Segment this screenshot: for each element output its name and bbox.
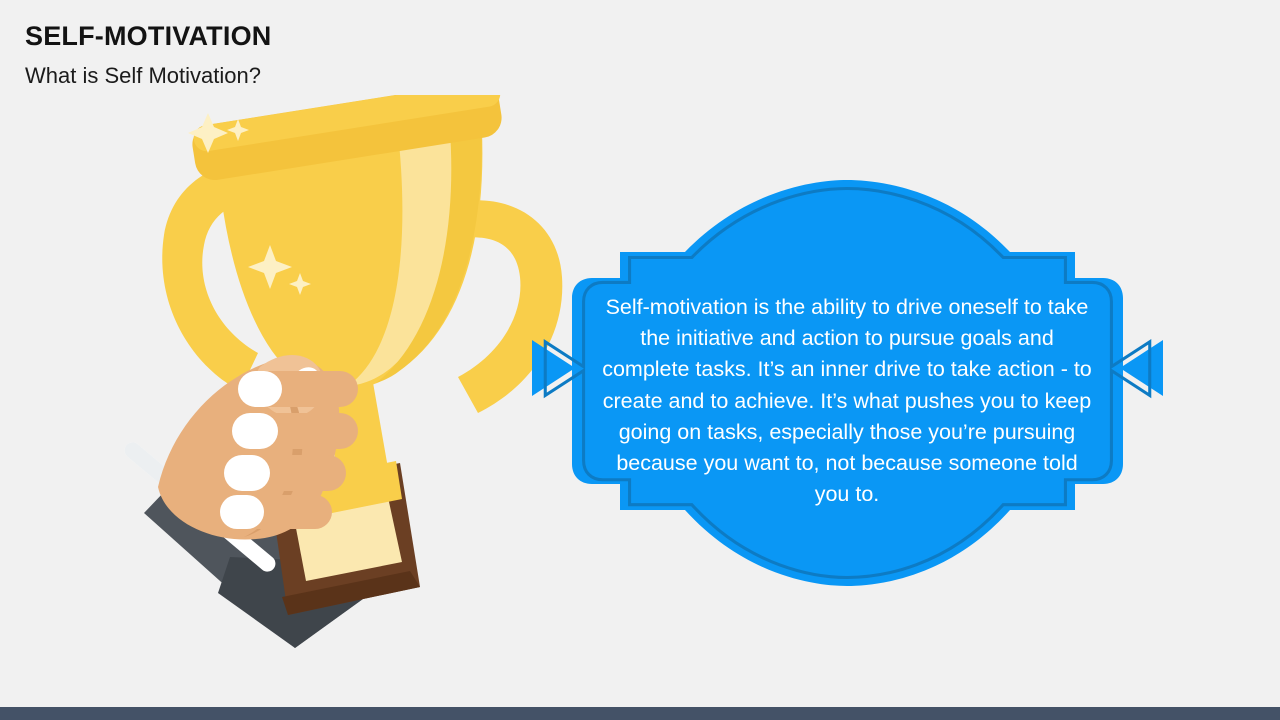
page-title: SELF-MOTIVATION xyxy=(25,22,271,51)
finger xyxy=(232,413,358,449)
finger xyxy=(220,495,332,529)
hand-shape xyxy=(158,355,358,540)
footer-bar xyxy=(0,707,1280,720)
callout-body-text: Self-motivation is the ability to drive … xyxy=(597,292,1097,510)
slide-canvas: SELF-MOTIVATION What is Self Motivation? xyxy=(0,0,1280,720)
callout-badge: Self-motivation is the ability to drive … xyxy=(515,180,1180,590)
trophy-illustration xyxy=(110,95,580,655)
finger xyxy=(224,455,346,491)
finger xyxy=(238,371,358,407)
page-subtitle: What is Self Motivation? xyxy=(25,63,261,88)
hand-holding-trophy-icon xyxy=(110,95,580,655)
